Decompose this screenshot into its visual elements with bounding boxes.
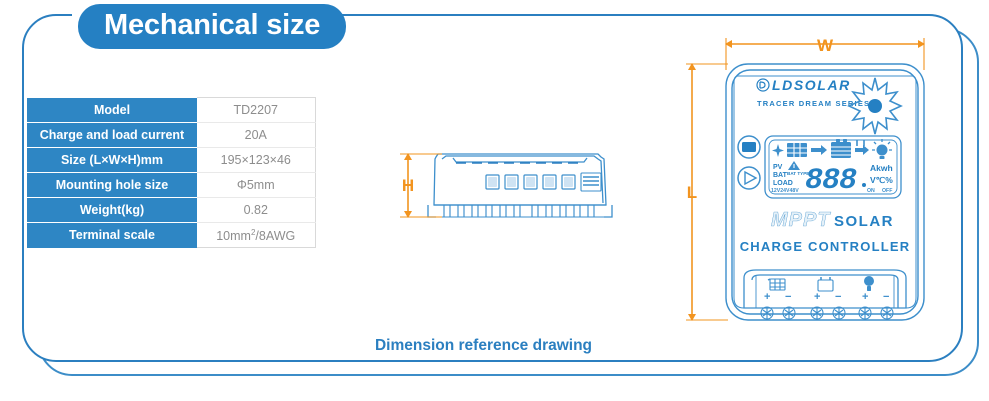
spec-label: Charge and load current — [27, 123, 197, 148]
lcd-digits: 888 — [805, 164, 857, 198]
mechanical-size-panel: Mechanical size Model TD2207 Charge and … — [0, 0, 989, 401]
terminal-scale-text: 10mm2/8AWG — [216, 229, 295, 243]
spec-value: TD2207 — [197, 98, 315, 123]
svg-text:+: + — [862, 291, 868, 303]
lcd-warning-icon — [788, 161, 800, 170]
side-view-terminal-holes — [486, 175, 575, 189]
table-row: Mounting hole size Φ5mm — [27, 173, 315, 198]
terminal-screw — [859, 307, 871, 319]
svg-text:+: + — [764, 291, 770, 303]
table-row: Terminal scale 10mm2/8AWG — [27, 223, 315, 248]
lcd-icon-row — [772, 139, 892, 159]
lcd-units-bottom: V℃% — [870, 175, 893, 185]
lcd-status-on: ON — [867, 188, 875, 194]
lcd-arrow-right-icon-2 — [855, 140, 869, 155]
terminal-screw — [783, 307, 795, 319]
lcd-decimal-point — [862, 183, 866, 187]
spec-value: 20A — [197, 123, 315, 148]
lcd-label-bat: BAT — [773, 172, 788, 179]
terminal-screw — [761, 307, 773, 319]
spec-label: Size (L×W×H)mm — [27, 148, 197, 173]
lcd-solar-panel-icon — [787, 143, 807, 157]
spec-value: 0.82 — [197, 198, 315, 223]
spec-label: Mounting hole size — [27, 173, 197, 198]
side-view-cooling-fins — [444, 205, 594, 217]
brand-name: LDSOLAR — [772, 77, 851, 93]
terminal-icon-solar-panel — [768, 279, 785, 290]
terminal-screw — [881, 307, 893, 319]
lcd-units-top: Akwh — [870, 163, 893, 173]
terminal-screws — [761, 307, 893, 319]
page-title: Mechanical size — [78, 4, 346, 49]
spec-value: 195×123×46 — [197, 148, 315, 173]
length-dimension-label: L — [687, 183, 697, 202]
terminal-screw — [833, 307, 845, 319]
menu-button — [738, 136, 760, 158]
terminal-icon-battery — [818, 277, 833, 291]
svg-text:−: − — [835, 291, 841, 303]
lcd-light-bulb-icon — [872, 139, 892, 159]
product-line-mppt: MPPT — [771, 209, 831, 231]
lcd-label-load: LOAD — [773, 180, 793, 187]
brand-logo-mark — [757, 79, 769, 91]
lcd-arrow-right-icon-1 — [811, 145, 827, 155]
table-row: Size (L×W×H)mm 195×123×46 — [27, 148, 315, 173]
width-dimension-label: W — [817, 36, 834, 55]
terminal-icon-light-bulb — [864, 276, 874, 291]
device-front-view: W L LDSOLAR — [668, 30, 940, 335]
lcd-battery-icon — [831, 139, 851, 158]
product-line-charge-controller: CHARGE CONTROLLER — [740, 239, 911, 254]
side-view-vent-grille — [581, 173, 601, 191]
lcd-sparkle-icon — [772, 144, 784, 157]
lcd-voltage-options: 12V24V48V — [771, 188, 799, 194]
figure-caption-text: Dimension reference drawing — [375, 337, 592, 354]
table-row: Weight(kg) 0.82 — [27, 198, 315, 223]
svg-text:−: − — [785, 291, 791, 303]
spec-label: Terminal scale — [27, 223, 197, 248]
table-row: Charge and load current 20A — [27, 123, 315, 148]
terminal-screw — [811, 307, 823, 319]
lcd-status-off: OFF — [882, 188, 892, 194]
spec-label: Weight(kg) — [27, 198, 197, 223]
lcd-label-pv: PV — [773, 164, 783, 171]
figure-caption: Dimension reference drawing — [0, 337, 989, 355]
spec-value: Φ5mm — [197, 173, 315, 198]
spec-value-terminal-scale: 10mm2/8AWG — [197, 223, 315, 248]
device-side-view: H — [398, 145, 643, 230]
enter-button — [738, 167, 760, 189]
specification-table: Model TD2207 Charge and load current 20A… — [27, 97, 316, 248]
terminal-polarity-marks: + − + − + − — [764, 291, 889, 303]
table-row: Model TD2207 — [27, 98, 315, 123]
spec-label: Model — [27, 98, 197, 123]
svg-text:−: − — [883, 291, 889, 303]
product-line-solar: SOLAR — [834, 213, 894, 230]
svg-text:+: + — [814, 291, 820, 303]
height-dimension-label: H — [402, 176, 414, 195]
